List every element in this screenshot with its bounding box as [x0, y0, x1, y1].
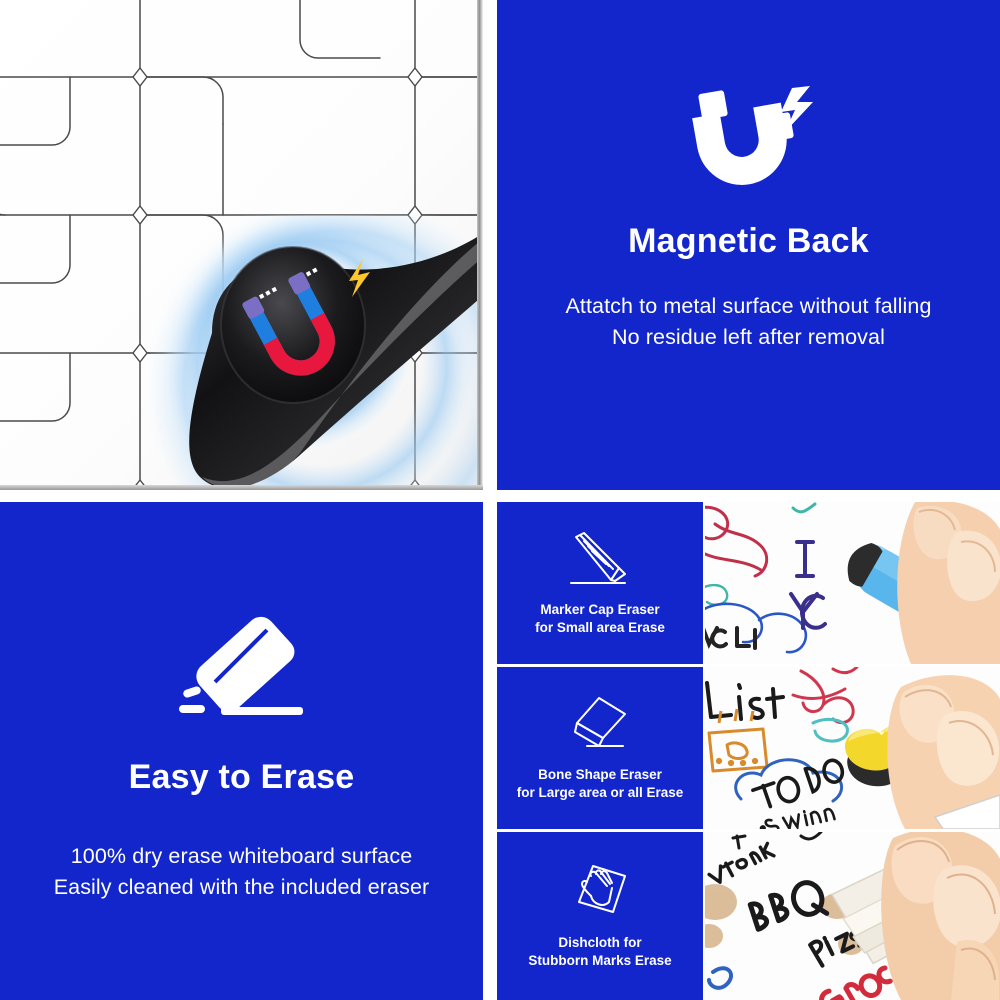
card-label: Marker Cap Eraser for Small area Erase [535, 601, 665, 637]
eraser-icon [167, 612, 317, 732]
eraser-card-bone-shape: Bone Shape Eraser for Large area or all … [497, 667, 703, 829]
magnetic-title: Magnetic Back [628, 222, 869, 261]
blue-marker-cap-eraser-photo [705, 502, 1000, 664]
erase-subtitle-line-2: Easily cleaned with the included eraser [54, 872, 430, 903]
card-label-line-1: Dishcloth for [528, 934, 671, 952]
easy-to-erase-panel: Easy to Erase 100% dry erase whiteboard … [0, 502, 483, 1000]
erase-title: Easy to Erase [129, 758, 355, 797]
magnetic-corner-peel [150, 215, 483, 490]
dishcloth-hand-icon [563, 862, 637, 922]
card-label-line-2: for Small area Erase [535, 619, 665, 637]
magnetic-subtitle: Attatch to metal surface without falling… [565, 291, 931, 352]
card-label-line-2: for Large area or all Erase [517, 784, 684, 802]
card-label: Bone Shape Eraser for Large area or all … [517, 766, 684, 802]
white-dishcloth-photo [705, 832, 1000, 1000]
eraser-card-dishcloth: Dishcloth for Stubborn Marks Erase [497, 832, 703, 1000]
erase-subtitle-line-1: 100% dry erase whiteboard surface [54, 841, 430, 872]
card-label-line-1: Bone Shape Eraser [517, 766, 684, 784]
magnetic-subtitle-line-2: No residue left after removal [565, 322, 931, 353]
whiteboard-photo-panel [0, 0, 483, 490]
marker-pencil-icon [563, 529, 637, 589]
whiteboard-frame-right [477, 0, 483, 490]
magnetic-back-panel: Magnetic Back Attatch to metal surface w… [497, 0, 1000, 490]
magnet-lightning-icon [674, 76, 824, 196]
yellow-bone-eraser-photo [705, 667, 1000, 829]
card-label-line-2: Stubborn Marks Erase [528, 952, 671, 970]
whiteboard-frame-bottom [0, 485, 483, 490]
card-label: Dishcloth for Stubborn Marks Erase [528, 934, 671, 970]
bone-eraser-icon [563, 694, 637, 754]
erase-subtitle: 100% dry erase whiteboard surface Easily… [54, 841, 430, 902]
eraser-card-marker-cap: Marker Cap Eraser for Small area Erase [497, 502, 703, 664]
magnetic-subtitle-line-1: Attatch to metal surface without falling [565, 291, 931, 322]
product-feature-collage: Magnetic Back Attatch to metal surface w… [0, 0, 1000, 1000]
card-label-line-1: Marker Cap Eraser [535, 601, 665, 619]
